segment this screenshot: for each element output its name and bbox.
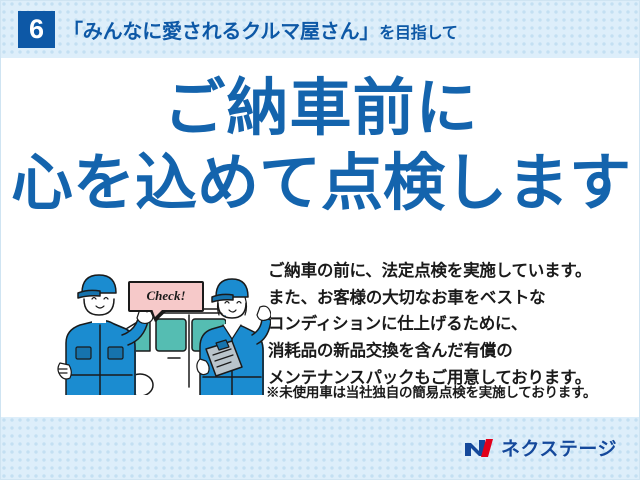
header-title-quoted: 「みんなに愛されるクルマ屋さん」 [63,21,379,43]
body-line: 消耗品の新品交換を含んだ有償の [268,338,628,365]
nexstage-n-mark-icon [464,437,494,459]
header-title-suffix: を目指して [379,25,458,42]
check-bubble: Check! [128,281,204,312]
section-number-badge: 6 [18,11,55,48]
headline-line-1: ご納車前に [1,77,640,140]
brand-name: ネクステージ [501,434,617,461]
check-bubble-tail-fill [151,306,166,317]
headline-block: ご納車前に 心を込めて点検します [1,77,640,215]
headline-line-2: 心を込めて点検します [1,152,640,215]
brand-logo: ネクステージ [464,434,617,461]
body-note: ※未使用車は当社独自の簡易点検を実施しております。 [266,381,596,401]
promo-slide: 6 「みんなに愛されるクルマ屋さん」を目指して ご納車前に 心を込めて点検します… [0,0,640,480]
female-mechanic [197,279,271,395]
header-title: 「みんなに愛されるクルマ屋さん」を目指して [63,15,458,44]
body-line: ご納車の前に、法定点検を実施しています。 [268,258,628,285]
body-line: また、お客様の大切なお車をベストな [268,285,628,312]
body-copy: ご納車の前に、法定点検を実施しています。 また、お客様の大切なお車をベストな コ… [268,258,628,392]
body-line: コンディションに仕上げるために、 [268,311,628,338]
mechanics-illustration: .ln { fill:none; stroke:#1a1a1a; stroke-… [56,263,271,395]
